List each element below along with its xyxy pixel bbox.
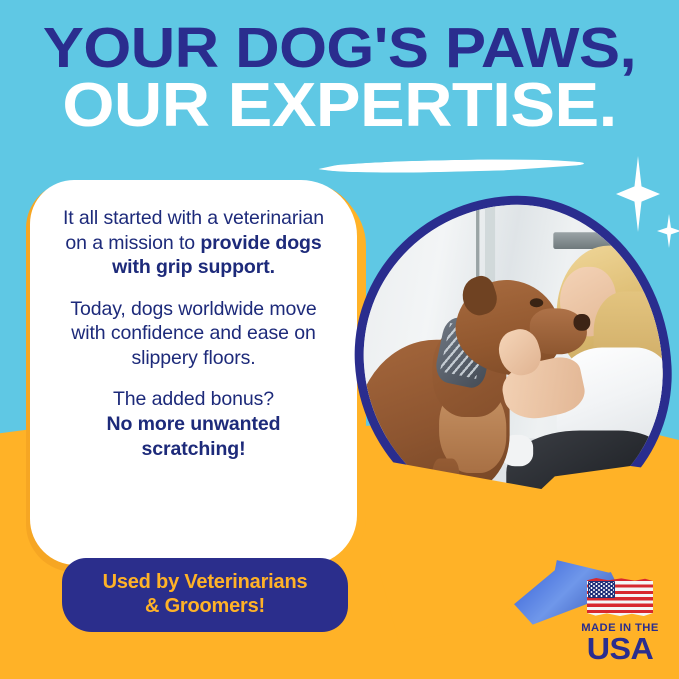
page-title: YOUR DOG'S PAWS, OUR EXPERTISE.	[0, 22, 679, 135]
story-paragraph-2: Today, dogs worldwide move with confiden…	[52, 297, 335, 371]
story-paragraph-3: The added bonus?No more unwanted scratch…	[52, 387, 335, 461]
page-curl-yellow-left	[380, 460, 570, 650]
poster-canvas: YOUR DOG'S PAWS, OUR EXPERTISE. It all s…	[0, 0, 679, 679]
underline-swoosh-decoration	[318, 157, 584, 174]
headline-line-1: YOUR DOG'S PAWS,	[0, 22, 679, 75]
story-p3-bold: No more unwanted scratching!	[107, 413, 281, 460]
headline-line-2: OUR EXPERTISE.	[0, 77, 679, 135]
story-paragraph-1: It all started with a veterinarian on a …	[52, 206, 335, 280]
made-in-usa-badge: MADE IN THE USA	[572, 578, 668, 670]
photo-dog-nose	[573, 314, 590, 331]
badge-line-2: & Groomers!	[145, 595, 265, 617]
usa-flag-icon	[587, 578, 653, 618]
badge-line-1: Used by Veterinarians	[103, 571, 308, 593]
flag-stars	[589, 582, 614, 597]
status-badge: Used by Veterinarians & Groomers!	[62, 558, 348, 632]
badge-text: Used by Veterinarians & Groomers!	[103, 571, 308, 618]
usa-label: USA	[570, 633, 670, 664]
story-copy: It all started with a veterinarian on a …	[52, 206, 335, 461]
story-card: It all started with a veterinarian on a …	[30, 180, 357, 565]
photo-dog-eye	[530, 298, 543, 307]
story-p3-plain: The added bonus?	[113, 388, 274, 410]
